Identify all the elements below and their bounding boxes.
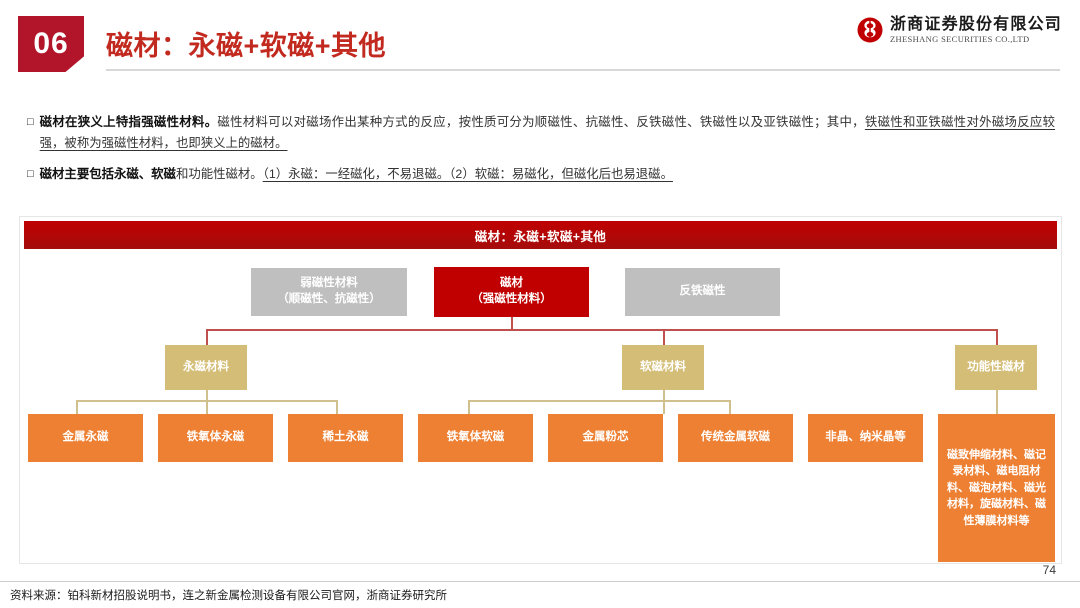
- zheshang-logo-icon: [857, 17, 883, 43]
- header-divider: [106, 69, 1060, 71]
- connector-tan-vertical-ruanci: [663, 390, 665, 414]
- section-number-badge: 06: [18, 16, 84, 72]
- node-soft-magnet-material: 软磁材料: [622, 345, 704, 390]
- bullet-item-2: □ 磁材主要包括永磁、软磁和功能性磁材。（1）永磁：一经磁化，不易退磁。（2）软…: [27, 164, 1055, 185]
- connector-red-drop-yongci: [206, 329, 208, 345]
- logo-company-name-en: ZHESHANG SECURITIES CO.,LTD: [890, 35, 1062, 44]
- bullet-1-bold: 磁材在狭义上特指强磁性材料。: [40, 115, 218, 129]
- bullet-marker-icon: □: [27, 112, 34, 133]
- bullet-text-1: 磁材在狭义上特指强磁性材料。磁性材料可以对磁场作出某种方式的反应，按性质可分为顺…: [40, 112, 1055, 155]
- connector-tan-vertical-gongneng: [996, 390, 998, 414]
- node-metal-powder-core: 金属粉芯: [548, 414, 663, 462]
- bullet-1-normal: 磁性材料可以对磁场作出某种方式的反应，按性质可分为顺磁性、抗磁性、反铁磁性、铁磁…: [217, 115, 864, 129]
- source-note: 资料来源：铂科新材招股说明书，连之新金属检测设备有限公司官网，浙商证券研究所: [10, 587, 447, 603]
- page-number: 74: [1043, 563, 1056, 577]
- bullet-list: □ 磁材在狭义上特指强磁性材料。磁性材料可以对磁场作出某种方式的反应，按性质可分…: [27, 112, 1055, 194]
- connector-tan-vertical-yongci: [206, 390, 208, 414]
- page-header: 06 磁材：永磁+软磁+其他 浙商证券股份有限公司 ZHESHANG SECUR…: [0, 0, 1080, 84]
- node-antiferromagnetic: 反铁磁性: [625, 268, 780, 316]
- node-rare-earth-permanent-magnet: 稀土永磁: [288, 414, 403, 462]
- diagram-title-bar: 磁材：永磁+软磁+其他: [24, 221, 1057, 249]
- connector-tan-drop-feijing: [729, 400, 731, 414]
- bullet-2-underline: （1）永磁：一经磁化，不易退磁。（2）软磁：易磁化，但磁化后也易退磁。: [263, 167, 673, 181]
- node-ferrite-soft-magnet: 铁氧体软磁: [418, 414, 533, 462]
- node-permanent-magnet-material: 永磁材料: [165, 345, 247, 390]
- bullet-marker-icon: □: [27, 164, 34, 185]
- page-title: 磁材：永磁+软磁+其他: [106, 24, 386, 63]
- bullet-item-1: □ 磁材在狭义上特指强磁性材料。磁性材料可以对磁场作出某种方式的反应，按性质可分…: [27, 112, 1055, 155]
- node-weak-magnetic-materials: 弱磁性材料 （顺磁性、抗磁性）: [251, 268, 407, 316]
- bullet-text-2: 磁材主要包括永磁、软磁和功能性磁材。（1）永磁：一经磁化，不易退磁。（2）软磁：…: [40, 164, 1055, 185]
- bullet-2-bold: 磁材主要包括永磁、软磁: [40, 167, 176, 181]
- node-ferrite-permanent-magnet: 铁氧体永磁: [158, 414, 273, 462]
- connector-red-vertical-main: [511, 317, 513, 329]
- node-magnetic-materials: 磁材 （强磁性材料）: [434, 267, 589, 317]
- connector-tan-drop-tieyangtiruanci: [468, 400, 470, 414]
- node-metal-permanent-magnet: 金属永磁: [28, 414, 143, 462]
- connector-tan-drop-jinshuyongci: [76, 400, 78, 414]
- magnet-material-hierarchy-diagram: 磁材：永磁+软磁+其他 弱磁性材料 （顺磁性、抗磁性） 磁材 （强磁性材料） 反…: [19, 216, 1062, 564]
- node-functional-magnet-detail: 磁致伸缩材料、磁记录材料、磁电阻材料、磁泡材料、磁光材料，旋磁材料、磁性薄膜材料…: [938, 414, 1055, 562]
- logo-company-name-cn: 浙商证券股份有限公司: [890, 17, 1062, 34]
- footer-divider: [0, 581, 1080, 582]
- connector-tan-bus-ruanci: [468, 400, 730, 402]
- logo-text-block: 浙商证券股份有限公司 ZHESHANG SECURITIES CO.,LTD: [890, 17, 1062, 44]
- node-traditional-metal-soft-magnet: 传统金属软磁: [678, 414, 793, 462]
- node-amorphous-nanocrystalline: 非晶、纳米晶等: [808, 414, 923, 462]
- connector-red-drop-gongneng: [996, 329, 998, 345]
- node-functional-magnet-material: 功能性磁材: [955, 345, 1037, 390]
- connector-tan-drop-tieyangtiyongci: [336, 400, 338, 414]
- connector-tan-bus-yongci: [76, 400, 338, 402]
- connector-red-drop-ruanci: [663, 329, 665, 345]
- connector-red-horizontal-bus: [206, 329, 997, 331]
- company-logo: 浙商证券股份有限公司 ZHESHANG SECURITIES CO.,LTD: [857, 17, 1062, 44]
- bullet-2-normal: 和功能性磁材。: [176, 167, 263, 181]
